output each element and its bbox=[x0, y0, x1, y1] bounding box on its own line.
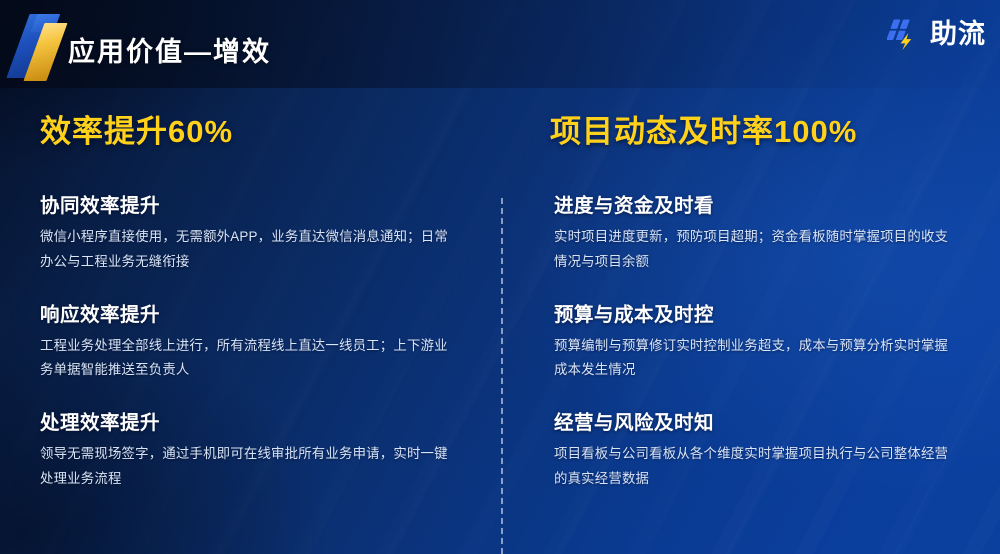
item-title: 预算与成本及时控 bbox=[554, 298, 960, 327]
slide-canvas: 应用价值—增效 助流 效率提升60% 协同效率提升 微信小程序直接使用，无需额外… bbox=[0, 0, 1000, 554]
item-description: 微信小程序直接使用，无需额外APP，业务直达微信消息通知；日常办公与工程业务无缝… bbox=[40, 225, 460, 275]
column-left-heading: 效率提升60% bbox=[40, 106, 462, 151]
item-title: 响应效率提升 bbox=[40, 298, 462, 327]
item-description: 实时项目进度更新，预防项目超期；资金看板随时掌握项目的收支情况与项目余额 bbox=[554, 225, 960, 275]
parallelogram-logo-mark bbox=[10, 8, 72, 80]
item-title: 进度与资金及时看 bbox=[554, 189, 960, 218]
item-description: 项目看板与公司看板从各个维度实时掌握项目执行与公司整体经营的真实经营数据 bbox=[554, 442, 960, 492]
item-title: 处理效率提升 bbox=[40, 406, 462, 435]
list-item: 进度与资金及时看 实时项目进度更新，预防项目超期；资金看板随时掌握项目的收支情况… bbox=[554, 189, 960, 275]
page-title: 应用价值—增效 bbox=[68, 30, 271, 69]
lightning-bolt-icon bbox=[887, 17, 921, 51]
item-title: 经营与风险及时知 bbox=[554, 406, 960, 435]
item-description: 领导无需现场签字，通过手机即可在线审批所有业务申请，实时一键处理业务流程 bbox=[40, 442, 460, 492]
item-description: 工程业务处理全部线上进行，所有流程线上直达一线员工；上下游业务单据智能推送至负责… bbox=[40, 334, 460, 384]
list-item: 协同效率提升 微信小程序直接使用，无需额外APP，业务直达微信消息通知；日常办公… bbox=[40, 189, 462, 275]
column-right: 项目动态及时率100% 进度与资金及时看 实时项目进度更新，预防项目超期；资金看… bbox=[502, 88, 1000, 554]
slide-header: 应用价值—增效 助流 bbox=[0, 0, 1000, 88]
item-title: 协同效率提升 bbox=[40, 189, 462, 218]
column-right-heading: 项目动态及时率100% bbox=[550, 106, 960, 151]
brand-name: 助流 bbox=[930, 21, 986, 48]
column-left: 效率提升60% 协同效率提升 微信小程序直接使用，无需额外APP，业务直达微信消… bbox=[0, 88, 502, 554]
list-item: 经营与风险及时知 项目看板与公司看板从各个维度实时掌握项目执行与公司整体经营的真… bbox=[554, 406, 960, 492]
list-item: 预算与成本及时控 预算编制与预算修订实时控制业务超支，成本与预算分析实时掌握成本… bbox=[554, 298, 960, 384]
list-item: 处理效率提升 领导无需现场签字，通过手机即可在线审批所有业务申请，实时一键处理业… bbox=[40, 406, 462, 492]
column-divider bbox=[501, 198, 503, 554]
content-columns: 效率提升60% 协同效率提升 微信小程序直接使用，无需额外APP，业务直达微信消… bbox=[0, 88, 1000, 554]
list-item: 响应效率提升 工程业务处理全部线上进行，所有流程线上直达一线员工；上下游业务单据… bbox=[40, 298, 462, 384]
item-description: 预算编制与预算修订实时控制业务超支，成本与预算分析实时掌握成本发生情况 bbox=[554, 334, 960, 384]
brand-lockup[interactable]: 助流 bbox=[887, 14, 986, 54]
